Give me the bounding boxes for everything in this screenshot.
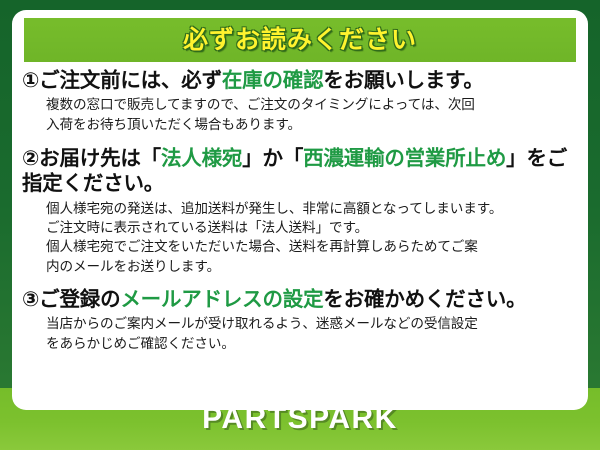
notice-subtext-line: 個人様宅宛でご注文をいただいた場合、送料を再計算しあらためてご案	[46, 237, 580, 256]
highlighted-phrase: メールアドレスの設定	[120, 288, 323, 311]
notice-item: ①ご注文前には、必ず在庫の確認をお願いします。複数の窓口で販売してますので、ご注…	[22, 68, 580, 134]
notice-banner-frame: PARTSPARK 必ずお読みください ①ご注文前には、必ず在庫の確認をお願いし…	[0, 0, 600, 450]
notice-subtext-line: をあらかじめご確認ください。	[46, 334, 580, 353]
notice-heading: ①ご注文前には、必ず在庫の確認をお願いします。	[22, 68, 580, 93]
notice-marker: ①	[22, 69, 39, 92]
notice-subtext-line: ご注文時に表示されている送料は「法人送料」です。	[46, 218, 580, 237]
notice-heading: ③ご登録のメールアドレスの設定をお確かめください。	[22, 287, 580, 312]
heading-text: か	[263, 147, 283, 170]
notice-subtext-line: 当店からのご案内メールが受け取れるよう、迷惑メールなどの受信設定	[46, 314, 580, 333]
heading-text: をお願いします。	[323, 69, 483, 92]
notice-subtext-line: 個人様宅宛の発送は、追加送料が発生し、非常に高額となってしまいます。	[46, 199, 580, 218]
notice-item: ③ご登録のメールアドレスの設定をお確かめください。当店からのご案内メールが受け取…	[22, 287, 580, 353]
highlighted-phrase: 在庫の確認	[222, 69, 324, 92]
notice-subtext-line: 内のメールをお送りします。	[46, 257, 580, 276]
notice-marker: ②	[22, 147, 39, 170]
highlighted-phrase: 法人様宛	[161, 147, 242, 170]
notice-subtext: 当店からのご案内メールが受け取れるよう、迷惑メールなどの受信設定をあらかじめご確…	[46, 314, 580, 353]
header-title: 必ずお読みください	[183, 28, 417, 53]
heading-text: ご登録の	[39, 288, 120, 311]
highlighted-phrase: 西濃運輸の営業所止め	[303, 147, 506, 170]
heading-text: 「	[141, 147, 161, 170]
header-banner: 必ずお読みください	[24, 18, 576, 62]
notice-list: ①ご注文前には、必ず在庫の確認をお願いします。複数の窓口で販売してますので、ご注…	[12, 68, 588, 359]
notice-subtext: 個人様宅宛の発送は、追加送料が発生し、非常に高額となってしまいます。ご注文時に表…	[46, 199, 580, 276]
notice-heading: ②お届け先は「法人様宛」か「西濃運輸の営業所止め」をご指定ください。	[22, 146, 580, 197]
notice-subtext-line: 入荷をお待ち頂いただく場合もあります。	[46, 115, 580, 134]
notice-subtext: 複数の窓口で販売してますので、ご注文のタイミングによっては、次回入荷をお待ち頂い…	[46, 95, 580, 134]
heading-text: をお確かめください。	[323, 288, 526, 311]
notice-subtext-line: 複数の窓口で販売してますので、ご注文のタイミングによっては、次回	[46, 95, 580, 114]
content-panel: 必ずお読みください ①ご注文前には、必ず在庫の確認をお願いします。複数の窓口で販…	[12, 10, 588, 410]
heading-text: お届け先は	[39, 147, 141, 170]
heading-text: 」	[242, 147, 262, 170]
heading-text: 「	[283, 147, 303, 170]
heading-text: 」	[506, 147, 526, 170]
heading-text: ご注文前には、必ず	[39, 69, 222, 92]
notice-marker: ③	[22, 288, 39, 311]
notice-item: ②お届け先は「法人様宛」か「西濃運輸の営業所止め」をご指定ください。個人様宅宛の…	[22, 146, 580, 276]
